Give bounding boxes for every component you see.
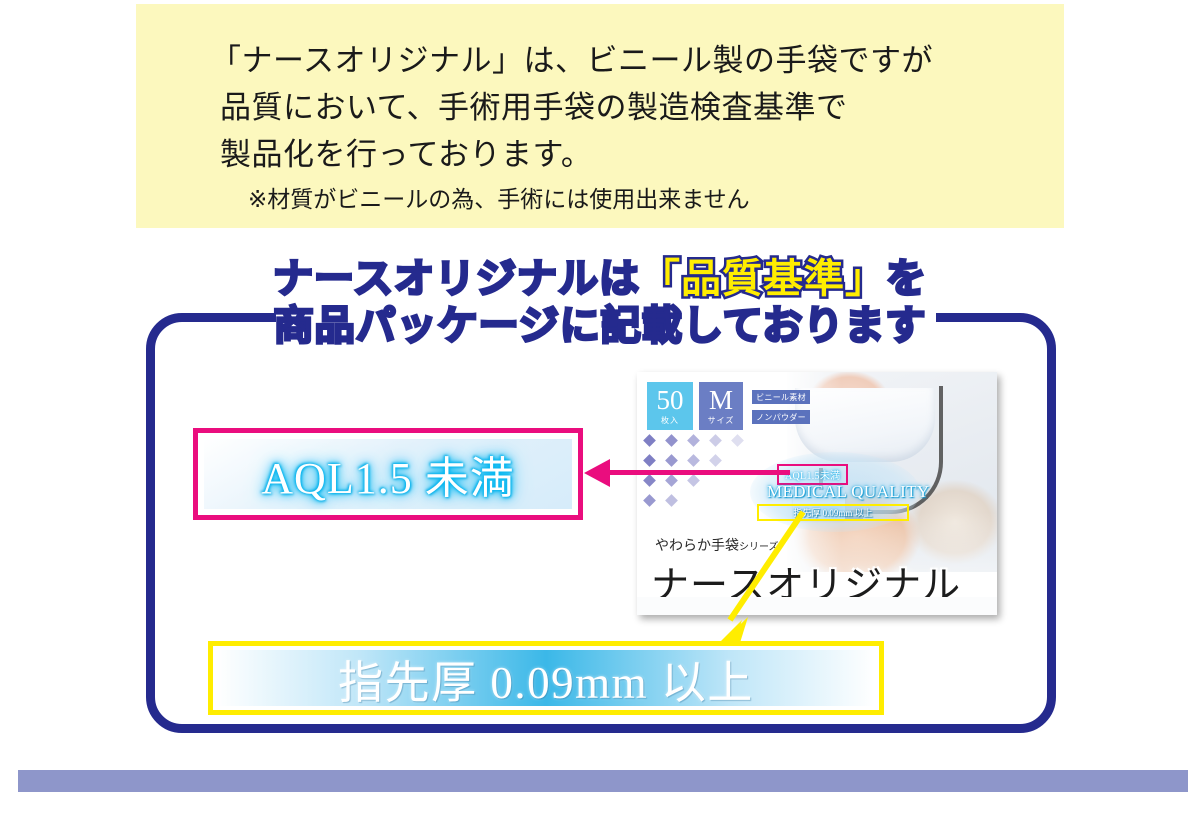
- thickness-callout-inner: 指先厚 0.09mm 以上: [217, 650, 875, 706]
- aql-callout-label: AQL1.5 未満: [261, 442, 514, 506]
- intro-line-3: 製品化を行っております。: [220, 129, 592, 174]
- thickness-callout-box: 指先厚 0.09mm 以上: [208, 641, 884, 715]
- package-count-unit: 枚入: [661, 415, 679, 426]
- package-size-badge: M サイズ: [699, 382, 743, 430]
- heading-line-1: ナースオリジナルは「品質基準」を: [0, 256, 1200, 303]
- aql-callout-box: AQL1.5 未満: [193, 428, 583, 520]
- intro-line-2: 品質において、手術用手袋の製造検査基準で: [220, 82, 848, 127]
- package-size-unit: サイズ: [708, 415, 735, 426]
- thickness-callout-label: 指先厚 0.09mm 以上: [338, 646, 754, 711]
- frame-top-gap: [276, 300, 936, 334]
- package-series-label: やわらか手袋シリーズ: [655, 535, 779, 555]
- package-series-suffix: シリーズ: [739, 542, 779, 553]
- aql-callout-inner: AQL1.5 未満: [204, 439, 572, 509]
- pink-arrow-line: [608, 470, 790, 475]
- intro-note: ※材質がビニールの為、手術には使用出来ません: [248, 180, 750, 214]
- package-count-number: 50: [657, 387, 684, 414]
- package-size-letter: M: [709, 387, 733, 414]
- package-tag-powderfree: ノンパウダー: [752, 410, 810, 424]
- heading-pre: ナースオリジナルは: [273, 256, 640, 302]
- product-package-image: 50 枚入 M サイズ ビニール素材 ノンパウダー AQL1.5未満: [637, 372, 997, 615]
- pink-arrow-head: [584, 459, 610, 487]
- heading-highlight: 「品質基準」: [640, 256, 886, 302]
- package-bottom-strip: [637, 597, 997, 615]
- package-count-badge: 50 枚入: [647, 382, 693, 430]
- package-series-main: やわらか手袋: [655, 538, 739, 554]
- infographic-root: 「ナースオリジナル」は、ビニール製の手袋ですが 品質において、手術用手袋の製造検…: [0, 0, 1200, 814]
- package-tag-material: ビニール素材: [752, 390, 810, 404]
- package-medical-quality-label: MEDICAL QUALITY: [767, 482, 917, 502]
- package-thickness-label: 指先厚 0.09mm 以上: [757, 504, 909, 521]
- heading-post: を: [886, 256, 927, 302]
- intro-line-1: 「ナースオリジナル」は、ビニール製の手袋ですが: [210, 35, 933, 80]
- bottom-accent-bar: [18, 770, 1188, 792]
- intro-banner: 「ナースオリジナル」は、ビニール製の手袋ですが 品質において、手術用手袋の製造検…: [136, 4, 1064, 228]
